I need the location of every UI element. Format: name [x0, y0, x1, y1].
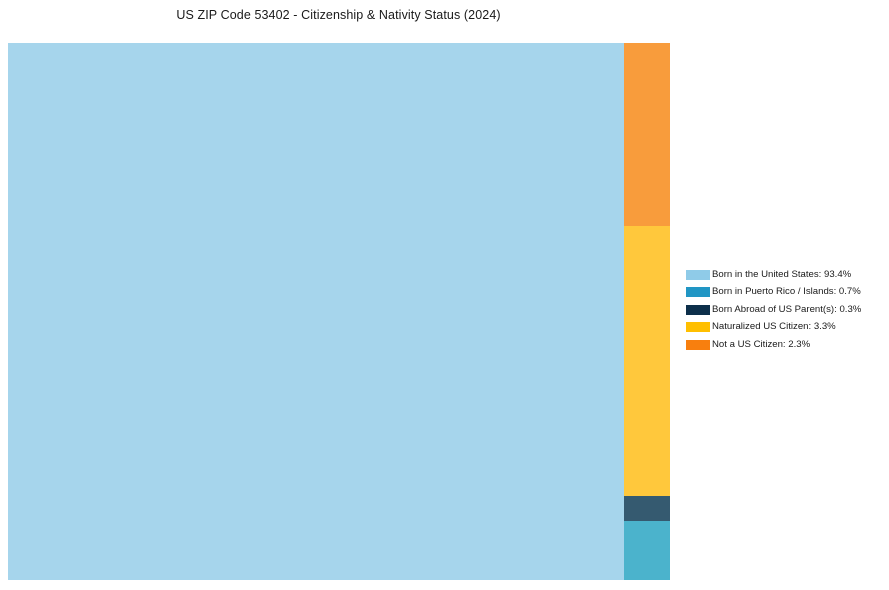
treemap-tile-born-in-puerto-rico-islands[interactable]: [624, 521, 670, 580]
chart-title: US ZIP Code 53402 - Citizenship & Nativi…: [0, 8, 677, 22]
legend-swatch-icon: [686, 322, 710, 332]
legend-item-born-in-the-united-states[interactable]: Born in the United States: 93.4%: [686, 266, 881, 284]
legend-item-born-in-puerto-rico-islands[interactable]: Born in Puerto Rico / Islands: 0.7%: [686, 284, 881, 302]
treemap-figure: US ZIP Code 53402 - Citizenship & Nativi…: [0, 0, 889, 590]
chart-legend: Born in the United States: 93.4% Born in…: [686, 266, 881, 354]
legend-item-label: Born in the United States: 93.4%: [712, 270, 851, 280]
legend-swatch-icon: [686, 340, 710, 350]
treemap-tile-born-abroad-of-us-parents[interactable]: [624, 496, 670, 521]
legend-item-not-a-us-citizen[interactable]: Not a US Citizen: 2.3%: [686, 336, 881, 354]
legend-item-label: Not a US Citizen: 2.3%: [712, 340, 810, 350]
legend-swatch-icon: [686, 270, 710, 280]
legend-swatch-icon: [686, 287, 710, 297]
treemap-tile-born-in-the-united-states[interactable]: [8, 43, 624, 580]
legend-item-label: Born in Puerto Rico / Islands: 0.7%: [712, 287, 861, 297]
treemap-tile-not-a-us-citizen[interactable]: [624, 43, 670, 226]
treemap-tile-naturalized-us-citizen[interactable]: [624, 226, 670, 496]
legend-item-born-abroad-of-us-parents[interactable]: Born Abroad of US Parent(s): 0.3%: [686, 301, 881, 319]
legend-swatch-icon: [686, 305, 710, 315]
treemap-plot-area: [8, 43, 670, 580]
legend-item-naturalized-us-citizen[interactable]: Naturalized US Citizen: 3.3%: [686, 319, 881, 337]
legend-item-label: Naturalized US Citizen: 3.3%: [712, 322, 836, 332]
legend-item-label: Born Abroad of US Parent(s): 0.3%: [712, 305, 861, 315]
